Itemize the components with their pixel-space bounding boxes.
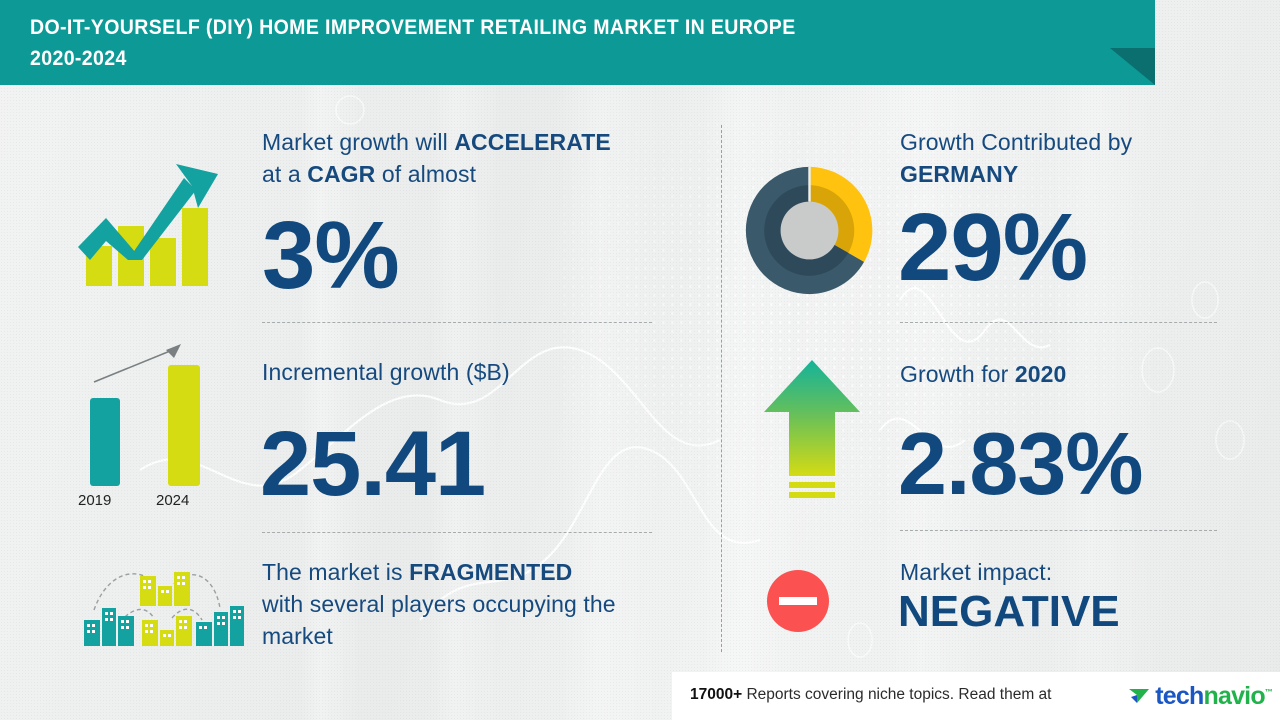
fragmented-text-line2: with several players occupying the (262, 591, 616, 617)
left-divider-1 (262, 322, 652, 323)
growth-bar-chart-arrow-icon (72, 150, 232, 290)
germany-value: 29% (898, 200, 1087, 296)
left-divider-2 (262, 532, 652, 533)
minus-bar (779, 597, 817, 605)
bar-label-2024: 2024 (156, 492, 189, 509)
up-arrow-icon (762, 358, 862, 503)
header-banner-fold (1110, 48, 1155, 85)
fragmented-text-line3: market (262, 623, 333, 649)
page-title-line1: DO-IT-YOURSELF (DIY) HOME IMPROVEMENT RE… (30, 12, 1034, 43)
incremental-growth-value: 25.41 (260, 418, 485, 510)
cagr-description: Market growth will ACCELERATE at a CAGR … (262, 126, 662, 190)
technavio-trademark: ™ (1265, 687, 1272, 696)
donut-chart-icon (742, 163, 877, 298)
growth-2020-value: 2.83% (898, 420, 1143, 508)
footer-text: 17000+ Reports covering niche topics. Re… (690, 686, 1051, 704)
germany-label-line1: Growth Contributed by (900, 129, 1132, 155)
fragmented-text-bold: FRAGMENTED (409, 559, 572, 585)
footer-caption: Reports covering niche topics. Read them… (746, 686, 1051, 703)
footer-report-count: 17000+ (690, 686, 742, 703)
growth-2020-label-year: 2020 (1015, 361, 1067, 387)
footer-bar: 17000+ Reports covering niche topics. Re… (672, 672, 1280, 720)
column-divider (721, 125, 722, 652)
fragmented-market-buildings-icon (62, 548, 247, 658)
right-divider-2 (900, 530, 1217, 531)
page-title: DO-IT-YOURSELF (DIY) HOME IMPROVEMENT RE… (30, 12, 1034, 74)
negative-minus-circle-icon (767, 570, 829, 632)
fragmented-text-pre: The market is (262, 559, 409, 585)
technavio-word-navio: navio (1204, 682, 1265, 710)
market-impact-value: NEGATIVE (898, 590, 1120, 634)
cagr-text-post: of almost (375, 161, 476, 187)
technavio-word-tech: tech (1155, 682, 1203, 710)
infographic-root: DO-IT-YOURSELF (DIY) HOME IMPROVEMENT RE… (0, 0, 1280, 720)
fragmented-description: The market is FRAGMENTED with several pl… (262, 556, 682, 652)
cagr-text-cagr: CAGR (307, 161, 375, 187)
cagr-text-pre: Market growth will (262, 129, 454, 155)
cagr-text-accelerate: ACCELERATE (454, 129, 610, 155)
technavio-mark-icon (1127, 683, 1153, 709)
technavio-wordmark: technavio™ (1155, 684, 1272, 709)
market-impact-label: Market impact: (900, 556, 1052, 588)
cagr-text-mid: at a (262, 161, 307, 187)
cagr-value: 3% (262, 208, 399, 304)
right-divider-1 (900, 322, 1217, 323)
technavio-logo[interactable]: technavio™ (1127, 681, 1272, 711)
two-bar-growth-icon: 2019 2024 (68, 340, 233, 520)
germany-description: Growth Contributed by GERMANY (900, 126, 1230, 190)
bar-label-2019: 2019 (78, 492, 111, 509)
germany-label-bold: GERMANY (900, 161, 1018, 187)
growth-2020-label-pre: Growth for (900, 361, 1015, 387)
page-title-line2: 2020-2024 (30, 43, 1034, 74)
incremental-growth-label: Incremental growth ($B) (262, 356, 510, 388)
growth-2020-label: Growth for 2020 (900, 358, 1066, 390)
